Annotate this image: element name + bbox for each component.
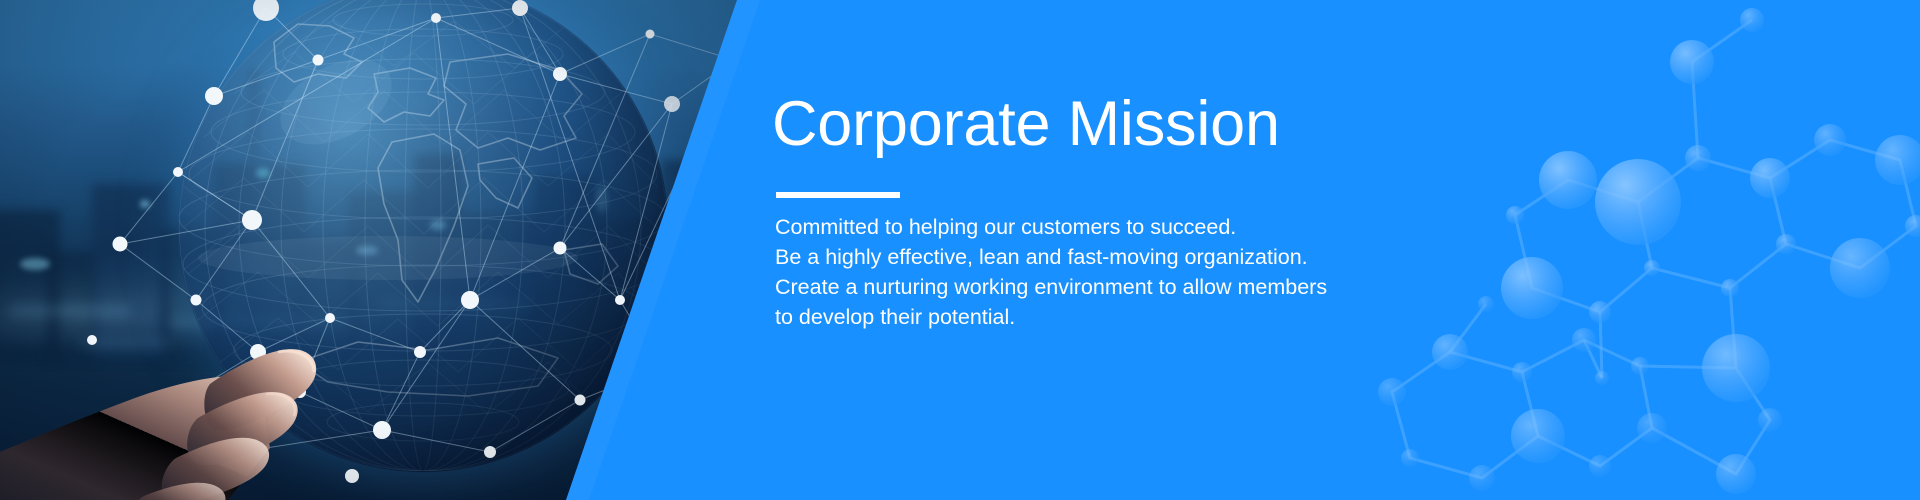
molecule-bonds	[1392, 20, 1916, 478]
molecule-atoms	[1378, 8, 1920, 494]
mission-line: Be a highly effective, lean and fast-mov…	[775, 242, 1375, 272]
hero-content: Corporate Mission Committed to helping o…	[772, 0, 1412, 500]
corporate-mission-banner: Corporate Mission Committed to helping o…	[0, 0, 1920, 500]
page-title: Corporate Mission	[772, 93, 1280, 156]
mission-line: to develop their potential.	[775, 302, 1375, 332]
hero-image-panel	[0, 0, 760, 500]
mission-line: Committed to helping our customers to su…	[775, 212, 1375, 242]
title-divider-rule	[776, 192, 900, 198]
mission-statement: Committed to helping our customers to su…	[775, 212, 1375, 332]
photo-vignette	[0, 0, 760, 500]
mission-line: Create a nurturing working environment t…	[775, 272, 1375, 302]
